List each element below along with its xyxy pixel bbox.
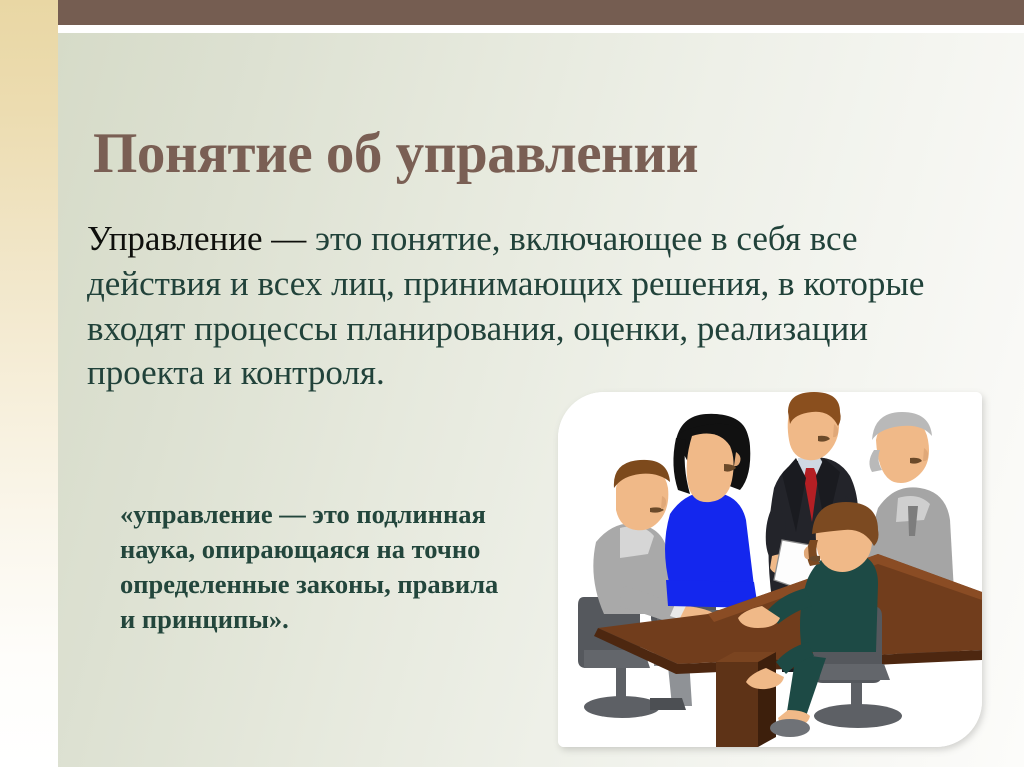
slide-title: Понятие об управлении [93,124,943,184]
slide-body-text: Управление — это понятие, включающее в с… [87,217,965,396]
top-bar-gap [57,25,1024,33]
body-lead-term: Управление — [87,219,315,258]
meeting-scene-svg [558,392,982,747]
slide-quote-text: «управление — это подлинная наука, опира… [120,497,515,638]
left-accent-stripe [0,0,58,767]
top-accent-bar [57,0,1024,25]
presentation-slide: Понятие об управлении Управление — это п… [0,0,1024,767]
business-meeting-illustration [558,392,982,747]
